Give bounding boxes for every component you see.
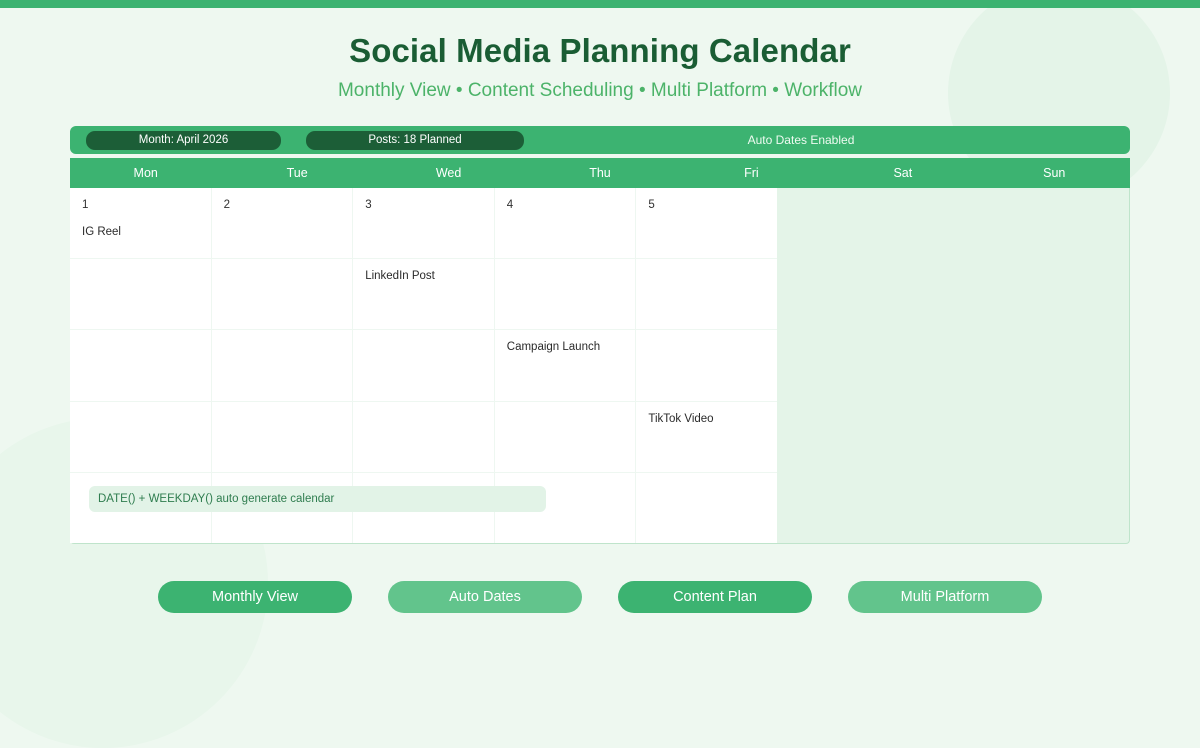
calendar-day-cell[interactable] — [636, 259, 777, 329]
auto-dates-button[interactable]: Auto Dates — [388, 581, 582, 613]
calendar-day-cell[interactable] — [495, 402, 637, 472]
weekday-header-row: Mon Tue Wed Thu Fri Sat Sun — [70, 158, 1130, 188]
top-accent-bar — [0, 0, 1200, 8]
weekday-tue: Tue — [221, 158, 372, 188]
calendar-week-row: TikTok Video — [70, 402, 777, 473]
page-title: Social Media Planning Calendar — [0, 32, 1200, 70]
monthly-view-button[interactable]: Monthly View — [158, 581, 352, 613]
day-number: 2 — [224, 198, 341, 212]
calendar-day-cell[interactable] — [70, 330, 212, 400]
weekday-wed: Wed — [373, 158, 524, 188]
calendar-day-cell[interactable] — [636, 473, 777, 543]
calendar-day-cell[interactable]: 3 — [353, 188, 495, 258]
calendar-day-cell[interactable] — [353, 402, 495, 472]
calendar-day-cell[interactable]: TikTok Video — [636, 402, 777, 472]
calendar-day-cell[interactable]: LinkedIn Post — [353, 259, 495, 329]
formula-note-pill: DATE() + WEEKDAY() auto generate calenda… — [89, 486, 546, 512]
auto-dates-status: Auto Dates Enabled — [524, 133, 1114, 147]
day-event[interactable]: TikTok Video — [648, 412, 765, 426]
page-header: Social Media Planning Calendar Monthly V… — [0, 32, 1200, 103]
day-number: 1 — [82, 198, 199, 212]
calendar-day-cell[interactable] — [70, 402, 212, 472]
day-event[interactable]: IG Reel — [82, 225, 199, 239]
day-number: 5 — [648, 198, 765, 212]
calendar-week-row: LinkedIn Post — [70, 259, 777, 330]
page-subtitle: Monthly View • Content Scheduling • Mult… — [0, 80, 1200, 103]
calendar-day-cell[interactable] — [70, 259, 212, 329]
calendar-day-cell[interactable] — [495, 259, 637, 329]
weekday-thu: Thu — [524, 158, 675, 188]
calendar-day-cell[interactable]: 2 — [212, 188, 354, 258]
calendar-day-cell[interactable]: 5 — [636, 188, 777, 258]
calendar-week-row: Campaign Launch — [70, 330, 777, 401]
calendar-day-cell[interactable]: 1 IG Reel — [70, 188, 212, 258]
posts-count-pill[interactable]: Posts: 18 Planned — [306, 131, 524, 150]
calendar-day-cell[interactable] — [212, 259, 354, 329]
weekday-sun: Sun — [979, 158, 1130, 188]
calendar-day-cell[interactable]: 4 — [495, 188, 637, 258]
weekday-sat: Sat — [827, 158, 978, 188]
calendar-day-cell[interactable] — [212, 330, 354, 400]
calendar-day-cell[interactable] — [636, 330, 777, 400]
day-number: 3 — [365, 198, 482, 212]
day-event[interactable]: Campaign Launch — [507, 340, 624, 354]
page-root: Social Media Planning Calendar Monthly V… — [0, 0, 1200, 628]
calendar-week-row: 1 IG Reel 2 3 4 5 — [70, 188, 777, 259]
calendar-day-cell[interactable]: Campaign Launch — [495, 330, 637, 400]
calendar-day-cell[interactable] — [212, 402, 354, 472]
day-number: 4 — [507, 198, 624, 212]
calendar-day-cell[interactable] — [353, 330, 495, 400]
weekday-mon: Mon — [70, 158, 221, 188]
multi-platform-button[interactable]: Multi Platform — [848, 581, 1042, 613]
action-button-bar: Monthly View Auto Dates Content Plan Mul… — [0, 581, 1200, 613]
calendar-toolbar: Month: April 2026 Posts: 18 Planned Auto… — [70, 126, 1130, 154]
content-plan-button[interactable]: Content Plan — [618, 581, 812, 613]
day-event[interactable]: LinkedIn Post — [365, 269, 482, 283]
weekday-fri: Fri — [676, 158, 827, 188]
month-selector-pill[interactable]: Month: April 2026 — [86, 131, 281, 150]
